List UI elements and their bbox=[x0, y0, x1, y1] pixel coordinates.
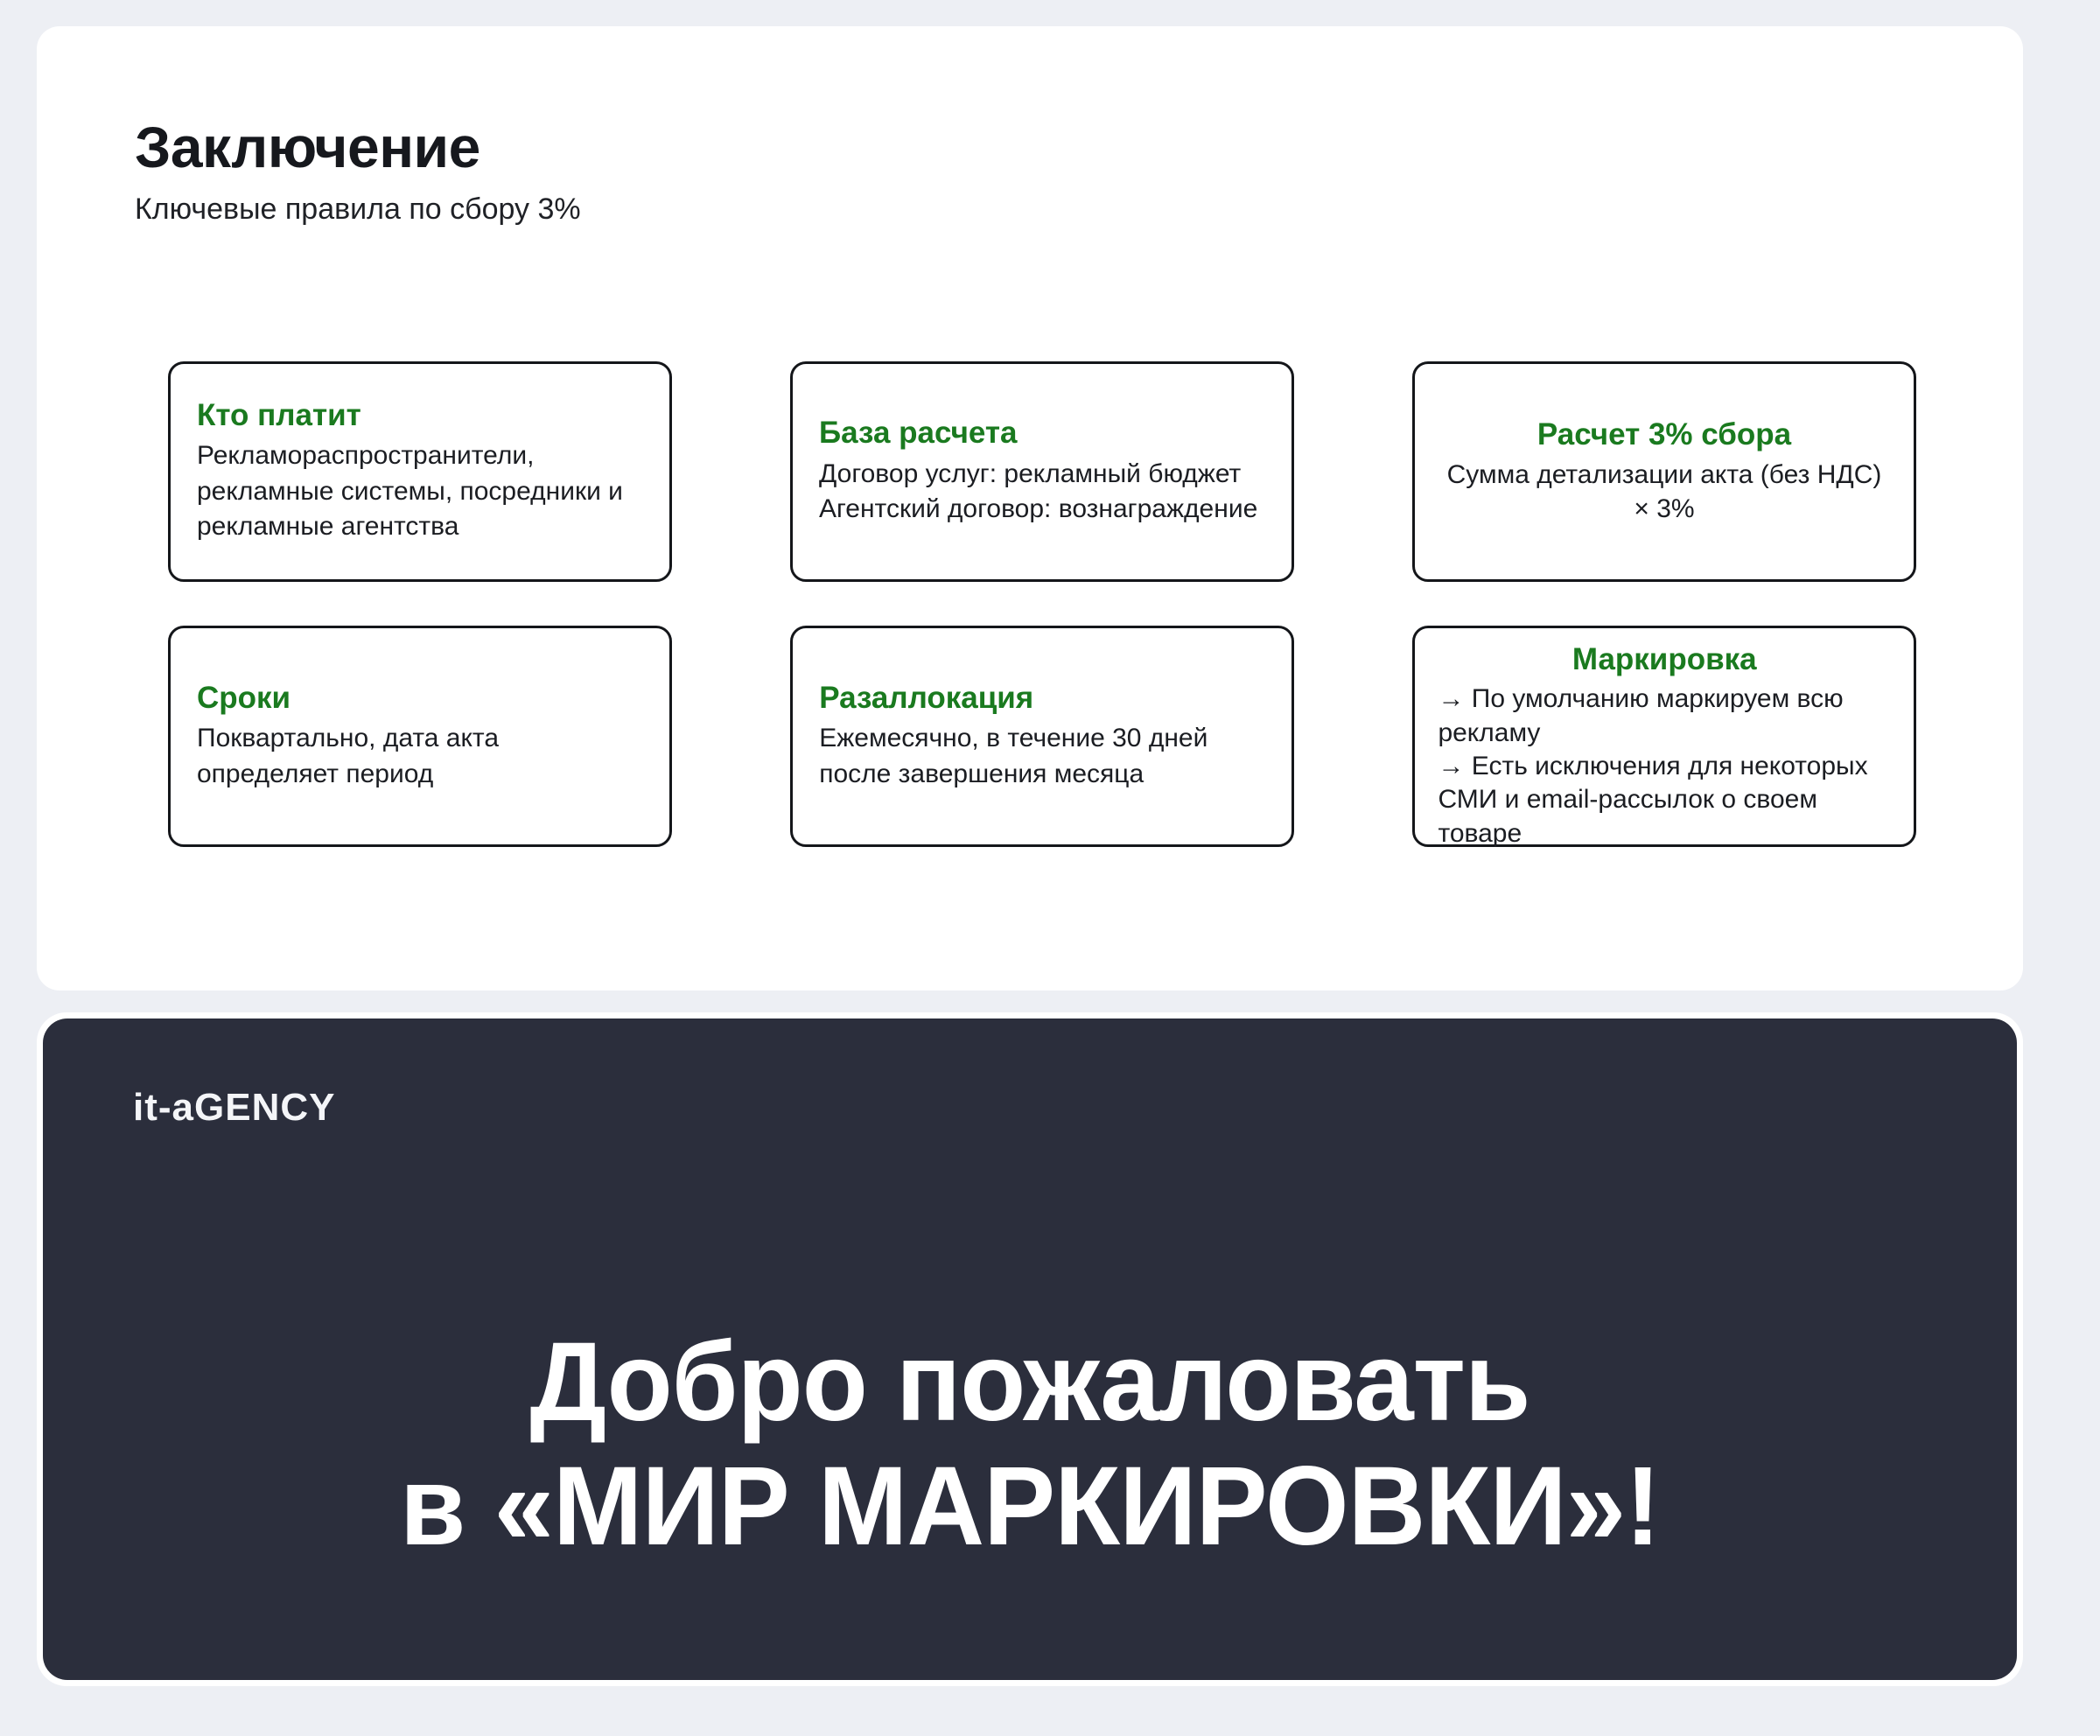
list-item: → По умолчанию маркируем всю рекламу bbox=[1438, 682, 1891, 750]
conclusion-slide: Заключение Ключевые правила по сбору 3% … bbox=[37, 26, 2023, 990]
card-title: Разаллокация bbox=[819, 681, 1265, 716]
hero-panel-frame: it-aGENCY Добро пожаловать в «МИР МАРКИР… bbox=[37, 1012, 2023, 1686]
list-item-label: Есть исключения для некоторых СМИ и emai… bbox=[1438, 752, 1867, 848]
labeling-bullet-list: → По умолчанию маркируем всю рекламу → Е… bbox=[1438, 682, 1891, 850]
card-body-line-1: Договор услуг: рекламный бюджет bbox=[819, 457, 1265, 493]
arrow-right-icon: → bbox=[1438, 752, 1464, 780]
card-body: Рекламораспространители, рекламные систе… bbox=[197, 438, 643, 545]
card-body-line-2: × 3% bbox=[1441, 492, 1887, 526]
card-fee-calculation: Расчет 3% сбора Сумма детализации акта (… bbox=[1412, 361, 1916, 582]
card-who-pays: Кто платит Рекламораспространители, рекл… bbox=[168, 361, 672, 582]
arrow-right-icon: → bbox=[1438, 684, 1464, 713]
card-deadlines: Сроки Поквартально, дата акта определяет… bbox=[168, 626, 672, 847]
page-title: Заключение bbox=[135, 118, 581, 176]
card-title: База расчета bbox=[819, 416, 1265, 451]
card-body-line-1: Сумма детализации акта (без НДС) bbox=[1441, 458, 1887, 492]
hero-headline-line-1: Добро пожаловать bbox=[82, 1325, 1977, 1440]
card-body: Ежемесячно, в течение 30 дней после заве… bbox=[819, 721, 1265, 792]
page-subtitle: Ключевые правила по сбору 3% bbox=[135, 193, 581, 226]
hero-headline-line-2: в «МИР МАРКИРОВКИ»! bbox=[82, 1449, 1977, 1564]
card-deallocation: Разаллокация Ежемесячно, в течение 30 дн… bbox=[790, 626, 1294, 847]
list-item: → Есть исключения для некоторых СМИ и em… bbox=[1438, 750, 1891, 850]
hero-headline: Добро пожаловать в «МИР МАРКИРОВКИ»! bbox=[43, 1325, 2017, 1564]
card-body: Поквартально, дата акта определяет перио… bbox=[197, 721, 643, 792]
it-agency-logo: it-aGENCY bbox=[133, 1088, 335, 1127]
card-title: Маркировка bbox=[1438, 642, 1891, 677]
card-title: Кто платит bbox=[197, 398, 643, 433]
card-labeling: Маркировка → По умолчанию маркируем всю … bbox=[1412, 626, 1916, 847]
rules-row-1: Кто платит Рекламораспространители, рекл… bbox=[168, 361, 1916, 582]
presentation-page: Заключение Ключевые правила по сбору 3% … bbox=[0, 0, 2100, 1736]
list-item-label: По умолчанию маркируем всю рекламу bbox=[1438, 684, 1843, 746]
rules-card-grid: Кто платит Рекламораспространители, рекл… bbox=[168, 361, 1916, 847]
rules-row-2: Сроки Поквартально, дата акта определяет… bbox=[168, 626, 1916, 847]
card-body-line-2: Агентский договор: вознаграждение bbox=[819, 492, 1265, 528]
slide-header: Заключение Ключевые правила по сбору 3% bbox=[135, 118, 581, 226]
welcome-hero-panel: it-aGENCY Добро пожаловать в «МИР МАРКИР… bbox=[43, 1018, 2017, 1680]
card-title: Расчет 3% сбора bbox=[1441, 417, 1887, 452]
card-calculation-base: База расчета Договор услуг: рекламный бю… bbox=[790, 361, 1294, 582]
card-title: Сроки bbox=[197, 681, 643, 716]
